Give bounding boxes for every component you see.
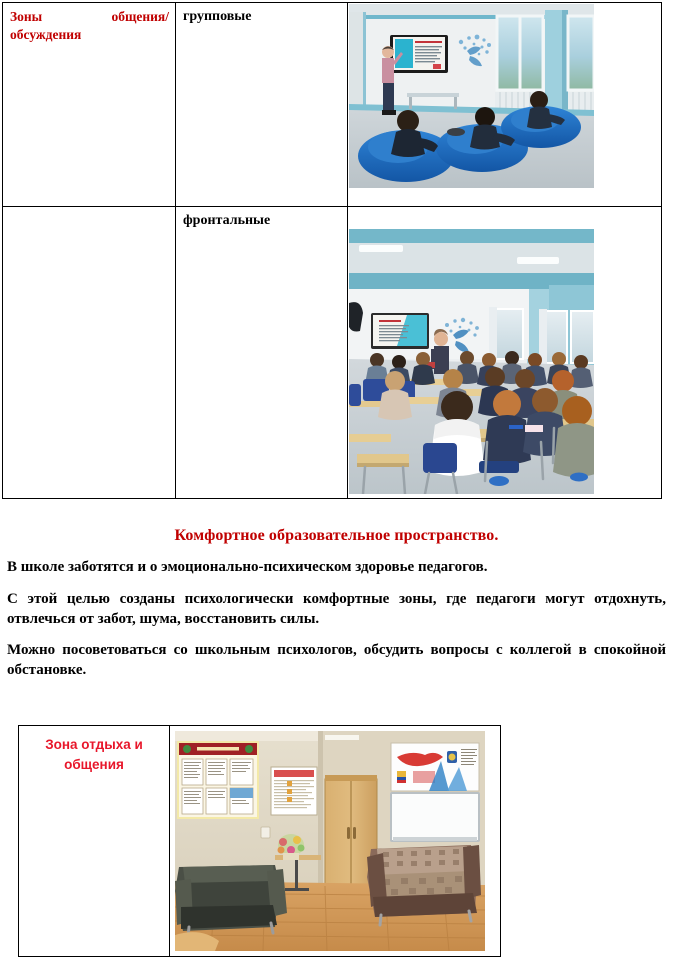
- photo-lounge: [175, 731, 485, 951]
- zone-photo-cell: [348, 3, 662, 207]
- zone-photo-cell: [348, 207, 662, 499]
- table-row: Зона отдыха и общения: [19, 726, 501, 957]
- rest-zone-table: Зона отдыха и общения: [18, 725, 501, 957]
- zone-mode-cell: групповые: [176, 3, 348, 207]
- zones-table: Зоны общения/ обсуждения групповые: [2, 2, 662, 499]
- table-row: Зоны общения/ обсуждения групповые: [3, 3, 662, 207]
- paragraph: С этой целью созданы психологически комф…: [7, 590, 666, 630]
- zone-mode-label: групповые: [183, 8, 341, 26]
- rest-zone-name-cell: Зона отдыха и общения: [19, 726, 170, 957]
- rest-zone-label: Зона отдыха и общения: [19, 726, 169, 774]
- paragraph: В школе заботятся и о эмоционально-психи…: [7, 558, 666, 578]
- zone-name-cell: Зоны общения/ обсуждения: [3, 3, 176, 207]
- section-heading: Комфортное образовательное пространство.: [7, 527, 666, 545]
- zone-mode-label: фронтальные: [183, 212, 341, 230]
- prose-section: Комфортное образовательное пространство.…: [7, 527, 666, 693]
- zone-name-cell: [3, 207, 176, 499]
- rest-zone-photo-cell: [170, 726, 501, 957]
- zone-label: Зоны общения/ обсуждения: [10, 8, 169, 43]
- photo-frontal-zone: [349, 229, 594, 494]
- paragraph: Можно посоветоваться со школьным психоло…: [7, 641, 666, 681]
- photo-group-zone: [349, 4, 594, 188]
- zone-mode-cell: фронтальные: [176, 207, 348, 499]
- table-row: фронтальные: [3, 207, 662, 499]
